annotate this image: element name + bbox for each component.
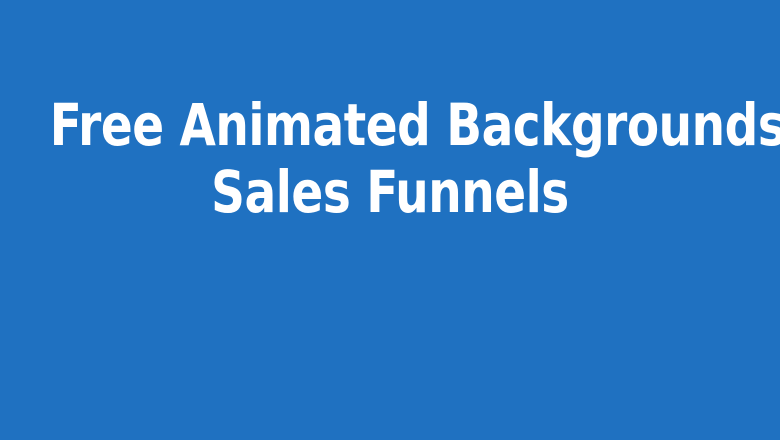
headline-line-2: Sales Funnels	[50, 159, 730, 226]
page-title: Free Animated Backgrounds for Sales Funn…	[0, 92, 780, 226]
banner-canvas: Free Animated Backgrounds for Sales Funn…	[0, 0, 780, 440]
headline-line-1: Free Animated Backgrounds for	[50, 92, 730, 159]
